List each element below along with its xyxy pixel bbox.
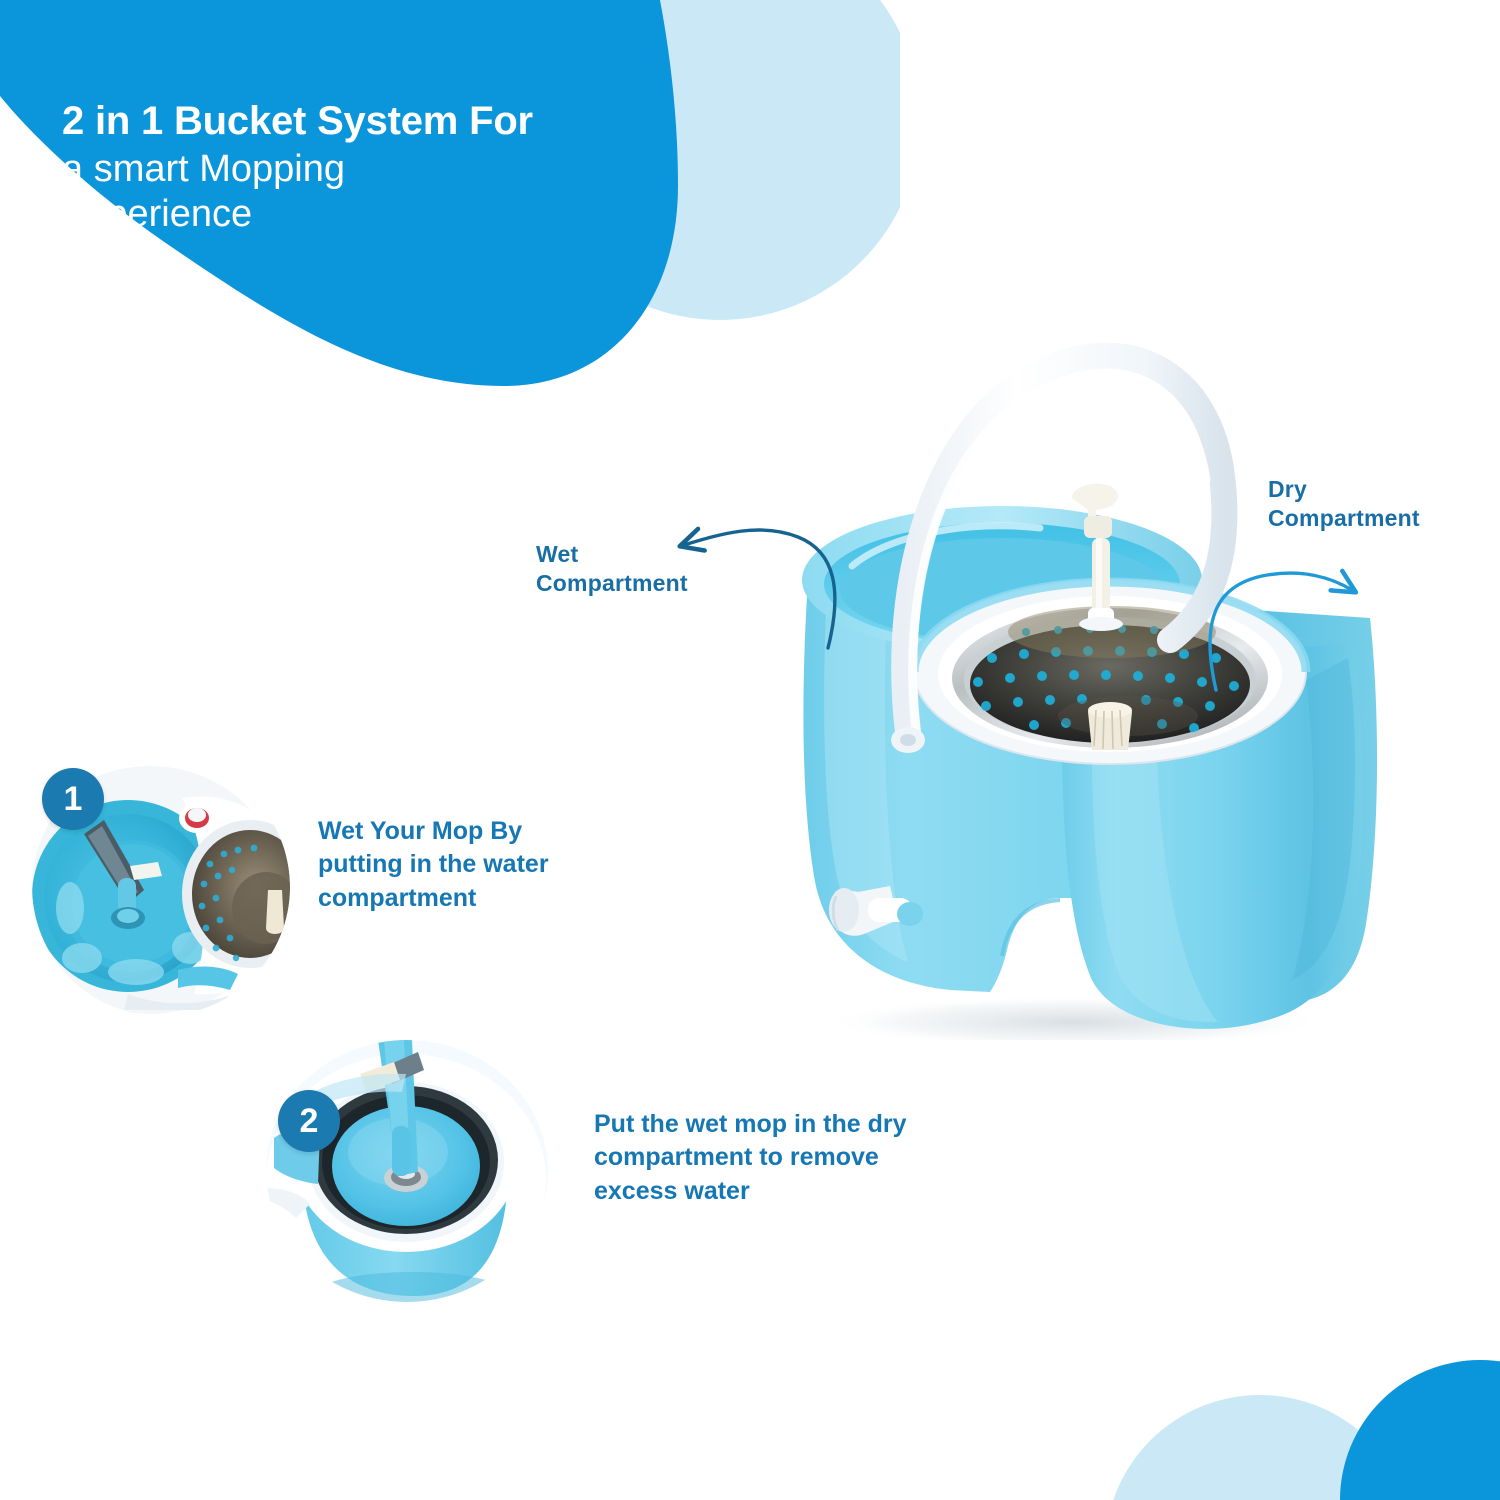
step-2-badge: 2 xyxy=(278,1090,340,1152)
page-subtitle-line-2: Experience xyxy=(62,192,682,237)
corner-brand-circle xyxy=(1340,1360,1500,1500)
dry-compartment-label: Dry Compartment xyxy=(1268,475,1420,534)
wet-compartment-label: Wet Compartment xyxy=(536,540,688,599)
step-2-text: Put the wet mop in the dry compartment t… xyxy=(594,1108,924,1208)
page-subtitle-line-1: a smart Mopping xyxy=(62,147,682,192)
header-text-block: 2 in 1 Bucket System For a smart Mopping… xyxy=(62,100,682,237)
step-1-badge: 1 xyxy=(42,768,104,830)
dry-compartment-assembly xyxy=(914,580,1306,764)
corner-decoration-shapes xyxy=(1080,1250,1500,1500)
spin-mop-bucket-photo xyxy=(740,280,1400,1040)
infographic-canvas: 2 in 1 Bucket System For a smart Mopping… xyxy=(0,0,1500,1500)
wet-label-line-1: Wet xyxy=(536,540,688,569)
spinner-hub xyxy=(1088,702,1132,750)
page-title-bold: 2 in 1 Bucket System For xyxy=(62,100,682,143)
wet-label-line-2: Compartment xyxy=(536,569,688,598)
dry-label-line-1: Dry xyxy=(1268,475,1420,504)
dry-label-line-2: Compartment xyxy=(1268,504,1420,533)
step-1-text: Wet Your Mop By putting in the water com… xyxy=(318,815,578,915)
mop-in-dry-compartment-photo xyxy=(266,1040,548,1302)
